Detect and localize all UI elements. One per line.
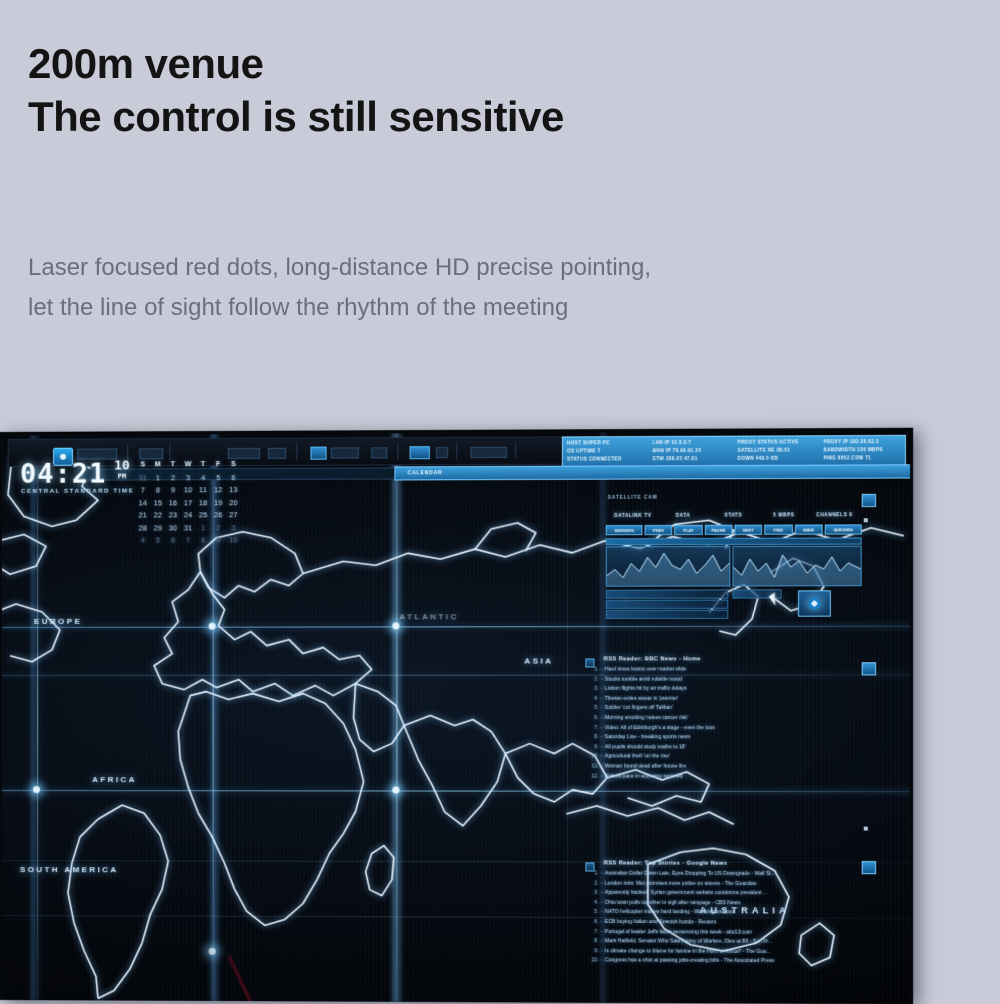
rss-item-text: NATO helicopter makes hard landing - Was… [605, 908, 734, 918]
calendar-day[interactable]: 10 [180, 484, 195, 497]
projection-screen: EUROPE AFRICA ASIA SOUTH AMERICA AUSTRAL… [0, 428, 913, 1004]
calendar-day[interactable]: 1 [196, 522, 211, 535]
calendar-day[interactable]: 17 [180, 497, 195, 510]
panel-row[interactable] [606, 610, 729, 619]
calendar-day[interactable]: 27 [226, 509, 241, 522]
status-line: GTW 208.67.47.81 [652, 455, 729, 463]
weekday-cell: S [226, 459, 241, 472]
calendar-day[interactable]: 4 [135, 535, 150, 548]
rss-item[interactable]: 2.-Stocks tumble amid volatile mood [585, 675, 866, 685]
play-button[interactable]: PLAY [675, 525, 703, 535]
digital-clock: 04:21 [20, 459, 106, 490]
calendar-widget[interactable]: S M T W T F S 31 1 2 3 4 5 6 7 8 9 1 [135, 459, 241, 547]
servers-button-right[interactable]: SERVERS [825, 524, 862, 534]
rss-item[interactable]: 10.-Agricultural theft 'on the rise' [585, 753, 866, 763]
calendar-day[interactable]: 12 [211, 484, 226, 497]
calendar-day[interactable]: 9 [165, 484, 180, 497]
calendar-day[interactable]: 8 [196, 534, 211, 547]
calendar-day[interactable]: 5 [150, 535, 165, 548]
rss-item-text: Ohio town pulls together in vigil after … [605, 899, 741, 909]
calendar-week-row: 14 15 16 17 18 19 20 [135, 497, 241, 510]
calendar-day[interactable]: 15 [150, 497, 165, 510]
rss-item-text: Video: All of Edinburgh's a stage - even… [605, 724, 715, 734]
rss-item-text: Tibetan exiles swear in 'premier' [605, 695, 679, 705]
calendar-day[interactable]: 31 [180, 522, 195, 535]
calendar-day[interactable]: 3 [180, 472, 195, 485]
rss-item[interactable]: 6.-Morning smoking 'raises cancer risk' [585, 714, 866, 724]
weekday-cell: S [135, 459, 150, 472]
panel-row[interactable] [606, 590, 729, 599]
pause-button[interactable]: PAUSE [704, 525, 732, 535]
calendar-week-row: 31 1 2 3 4 5 6 [135, 472, 241, 485]
calendar-day[interactable]: 13 [226, 484, 241, 497]
rss-item[interactable]: 8.-Saturday Live - breaking sports news [585, 733, 866, 743]
calendar-week-row: 4 5 6 7 8 9 10 [135, 534, 241, 547]
calendar-day[interactable]: 7 [135, 484, 150, 497]
clock-seconds-meridiem: 10 PM [114, 459, 130, 481]
rss-item-text: Congress has a shot at passing jobs-crea… [605, 957, 775, 967]
status-column: LAN IP 10.0.0.7 WAN IP 76.96.91.55 GTW 2… [648, 437, 733, 468]
calendar-day[interactable]: 7 [180, 534, 195, 547]
map-label-asia: ASIA [524, 656, 553, 665]
calendar-day[interactable]: 30 [165, 522, 180, 535]
panel-handle[interactable] [864, 518, 868, 522]
seek-button[interactable]: SEEK [794, 524, 822, 534]
calendar-day[interactable]: 5 [211, 472, 226, 485]
satellite-transport-controls[interactable]: SERVERS PREV PLAY PAUSE NEXT FWD SEEK SE… [606, 524, 862, 535]
map-label-africa: AFRICA [92, 775, 137, 784]
calendar-day[interactable]: 9 [211, 534, 226, 547]
scroll-up-button[interactable] [798, 590, 831, 616]
forward-button[interactable]: FWD [764, 525, 792, 535]
rss-item-text: London riots: Met promises more police o… [605, 879, 757, 889]
weekday-cell: W [180, 459, 195, 472]
tab-stats[interactable]: STATS [708, 509, 758, 520]
rss-item-text: Australian Dollar Down Late, Eyes Droppi… [605, 870, 776, 880]
rss-item[interactable]: 5.-Soldier 'cut fingers off Taliban' [585, 704, 866, 714]
signal-chart-right [732, 546, 861, 587]
calendar-day[interactable]: 14 [135, 497, 150, 510]
status-column: HOST SUPER PC OS UPTIME 7 STATUS CONNECT… [563, 437, 648, 468]
calendar-day[interactable]: 21 [135, 509, 150, 522]
tab-channels[interactable]: CHANNELS 8 [809, 509, 860, 520]
calendar-day[interactable]: 2 [211, 522, 226, 535]
calendar-day[interactable]: 2 [165, 472, 180, 485]
rss-item[interactable]: 1.-Hard times looms over market slide [585, 665, 866, 675]
map-label-europe: EUROPE [34, 617, 82, 626]
rss-reader-google: RSS Reader: Top Stories - Google News 1.… [585, 860, 866, 967]
marketing-description: Laser focused red dots, long-distance HD… [28, 248, 888, 327]
calendar-day[interactable]: 25 [196, 509, 211, 522]
rss-item-text: Mark Hatfield, Senator Who Saw Agony of … [605, 937, 773, 947]
calendar-day[interactable]: 11 [196, 484, 211, 497]
calendar-day[interactable]: 19 [211, 497, 226, 510]
rss-item-text: Stocks tumble amid volatile mood [605, 675, 682, 685]
marketing-copy: 200m venue The control is still sensitiv… [28, 40, 928, 140]
calendar-day[interactable]: 8 [150, 484, 165, 497]
calendar-day[interactable]: 1 [150, 472, 165, 485]
description-line-2: let the line of sight follow the rhythm … [28, 288, 888, 328]
rss-title: RSS Reader: BBC News - Home [585, 656, 866, 662]
rss-item-text: Lisbon flights hit by air traffic delays [605, 685, 687, 695]
satellite-panel-title: SATELLITE CAM [608, 495, 658, 500]
rss-item-text: Is climate change to blame for famine in… [605, 947, 771, 957]
tab-bitrate[interactable]: 5 MBPS [759, 509, 809, 520]
page-title: 200m venue [28, 40, 928, 87]
panel-handle[interactable] [864, 827, 868, 831]
calendar-weekday-row: S M T W T F S [135, 459, 241, 472]
calendar-day[interactable]: 28 [135, 522, 150, 535]
calendar-day[interactable]: 4 [196, 472, 211, 485]
status-column: PROXY STATUS ACTIVE SATELLITE RE 88.01 D… [733, 436, 819, 467]
rss-item[interactable]: 10.-Congress has a shot at passing jobs-… [585, 957, 866, 968]
rss-item-text: Soldier 'cut fingers off Taliban' [605, 704, 674, 714]
panel-close-button[interactable] [862, 494, 876, 507]
calendar-day[interactable]: 3 [226, 522, 241, 535]
calendar-week-row: 28 29 30 31 1 2 3 [135, 522, 241, 535]
calendar-day[interactable]: 6 [226, 472, 241, 485]
clock-timezone: CENTRAL STANDARD TIME [21, 488, 134, 494]
satellite-panel-tabs[interactable]: DATALINK TV DATA STATS 5 MBPS CHANNELS 8 [608, 509, 860, 521]
rss-item[interactable]: 3.-Lisbon flights hit by air traffic del… [585, 685, 866, 695]
tab-datalink[interactable]: DATALINK TV [608, 510, 658, 521]
prev-button[interactable]: PREV [645, 525, 673, 535]
calendar-day[interactable]: 20 [226, 497, 241, 510]
status-line: PING 8052.COM 71 [823, 454, 901, 462]
screen-surface: EUROPE AFRICA ASIA SOUTH AMERICA AUSTRAL… [2, 431, 910, 1004]
screen-bezel: EUROPE AFRICA ASIA SOUTH AMERICA AUSTRAL… [0, 428, 913, 1004]
description-line-1: Laser focused red dots, long-distance HD… [28, 248, 888, 288]
rss-item-text: ECB buying Italian and Spanish bonds - R… [605, 918, 717, 928]
next-button[interactable]: NEXT [734, 525, 762, 535]
calendar-day[interactable]: 26 [211, 509, 226, 522]
signal-chart-left [606, 546, 731, 587]
weekday-cell: M [150, 459, 165, 472]
rss-item-text: Hard times looms over market slide [605, 665, 686, 675]
weekday-cell: F [211, 459, 226, 472]
rss-item-text: Agricultural theft 'on the rise' [605, 753, 670, 763]
rss-title: RSS Reader: Top Stories - Google News [585, 860, 866, 867]
calendar-day[interactable]: 18 [196, 497, 211, 510]
calendar-week-row: 7 8 9 10 11 12 13 [135, 484, 241, 497]
satellite-seek-bar[interactable] [606, 538, 862, 546]
status-column: PROXY IP 192.30.82.3 BANDWIDTH 100 MBPS … [819, 436, 905, 467]
rss-item[interactable]: 12.-Robust pace in economy reported [585, 772, 866, 782]
rss-item-text: Morning smoking 'raises cancer risk' [605, 714, 688, 724]
map-label-south-america: SOUTH AMERICA [20, 865, 119, 874]
rss-item-text: Woman found dead after house fire [605, 762, 686, 772]
rss-item[interactable]: 9.-All pupils should study maths to 18' [585, 743, 866, 753]
calendar-day[interactable]: 29 [150, 522, 165, 535]
clock-meridiem: PM [114, 472, 130, 481]
weekday-cell: T [165, 459, 180, 472]
rss-item[interactable]: 7.-Video: All of Edinburgh's a stage - e… [585, 724, 866, 734]
servers-button-left[interactable]: SERVERS [606, 525, 643, 535]
rss-item-text: Saturday Live - breaking sports news [605, 733, 691, 743]
map-label-atlantic: ATLANTIC [399, 612, 458, 621]
rss-panel-button-top[interactable] [862, 662, 876, 675]
panel-row[interactable] [606, 600, 729, 609]
calendar-day[interactable]: 16 [165, 497, 180, 510]
rss-item[interactable]: 4.-Tibetan exiles swear in 'premier' [585, 694, 866, 704]
rss-item-text: All pupils should study maths to 18' [605, 743, 686, 753]
calendar-week-row: 21 22 23 24 25 26 27 [135, 509, 241, 522]
rss-item[interactable]: 11.-Woman found dead after house fire [585, 762, 866, 772]
rss-item-text: Apparently hacked, Syrian government web… [605, 889, 768, 899]
calendar-day[interactable]: 6 [165, 534, 180, 547]
status-line: STATUS CONNECTED [567, 455, 644, 463]
calendar-day[interactable]: 23 [165, 509, 180, 522]
clock-seconds: 10 [114, 459, 130, 472]
calendar-title: CALENDAR [408, 470, 443, 476]
weekday-cell: T [196, 459, 211, 472]
calendar-titlebar[interactable]: CALENDAR [394, 464, 910, 480]
rss-panel-button-bottom[interactable] [862, 861, 876, 874]
calendar-day[interactable]: 24 [180, 509, 195, 522]
status-line: DOWN 448.0 KB [738, 455, 815, 463]
rss-item-text: Portugal of leader Jeffs faces sentencin… [605, 928, 752, 938]
rss-reader-bbc: RSS Reader: BBC News - Home 1.-Hard time… [585, 656, 866, 782]
calendar-day[interactable]: 31 [135, 472, 150, 485]
rss-item-text: Robust pace in economy reported [605, 772, 683, 782]
calendar-day[interactable]: 22 [150, 509, 165, 522]
tab-data[interactable]: DATA [658, 510, 708, 521]
calendar-day[interactable]: 10 [226, 534, 241, 547]
page-subtitle: The control is still sensitive [28, 93, 928, 140]
